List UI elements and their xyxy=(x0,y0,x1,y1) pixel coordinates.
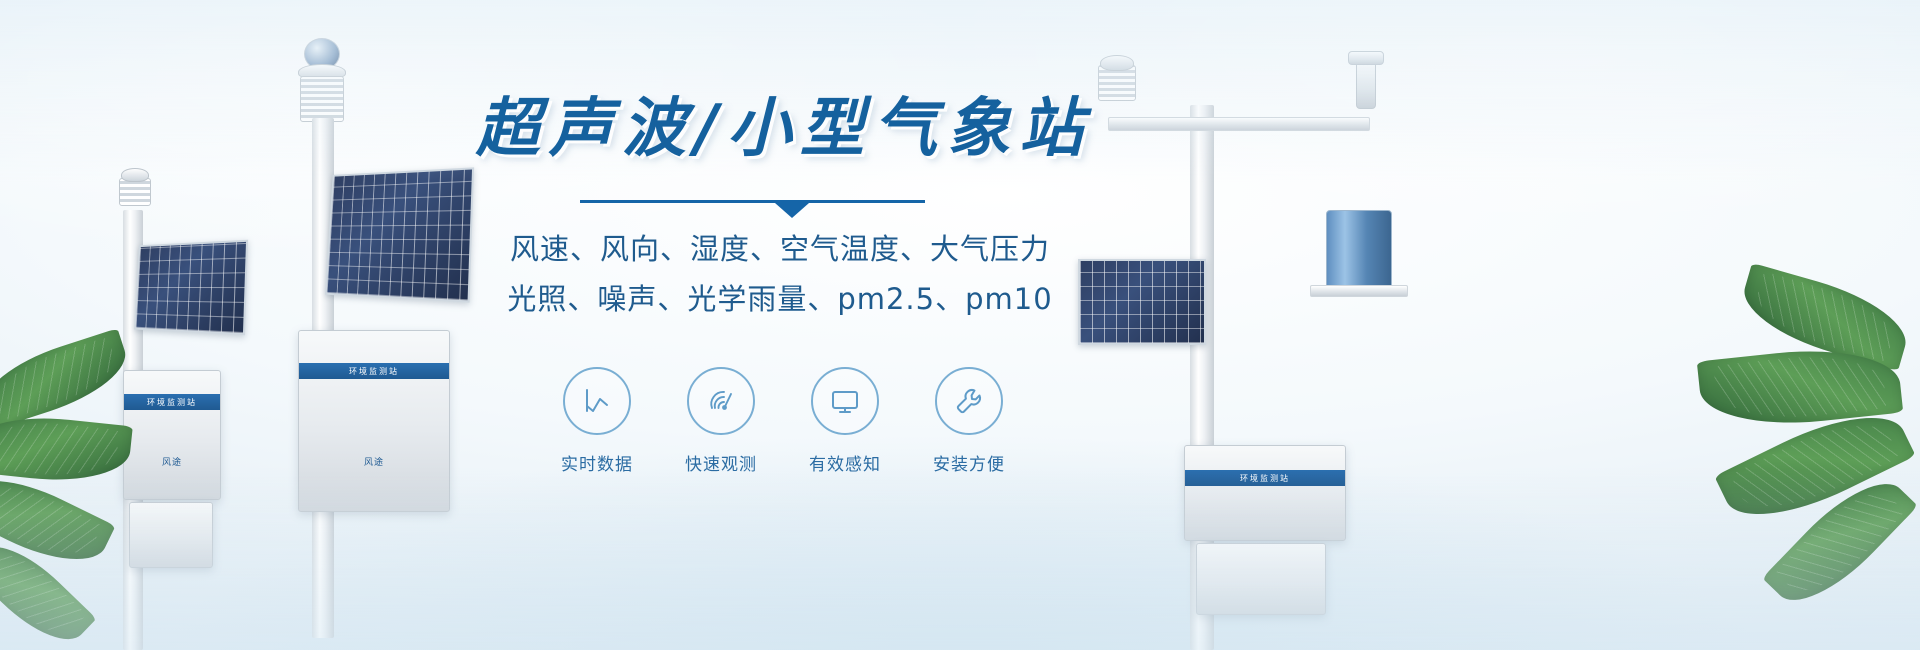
wind-vane-sensor xyxy=(1356,59,1376,109)
weather-station-left: 环境监测站 风途 xyxy=(105,170,265,650)
foliage-right xyxy=(1680,285,1920,650)
divider-bar xyxy=(580,200,925,203)
wrench-icon xyxy=(935,367,1003,435)
feature-item-realtime-data[interactable]: 实时数据 xyxy=(557,367,637,475)
divider-triangle-icon xyxy=(775,203,809,218)
station-c-label-strip: 环境监测站 xyxy=(1185,470,1345,486)
station-a-label: 环境监测站 xyxy=(147,397,197,408)
station-a-enclosure: 环境监测站 风途 xyxy=(123,370,221,500)
line-chart-icon xyxy=(563,367,631,435)
feature-list: 实时数据 快速观测 xyxy=(557,367,1009,475)
station-a-brand: 风途 xyxy=(124,455,220,468)
product-banner: 环境监测站 风途 环境监测站 风途 环境监测站 xyxy=(0,0,1920,650)
dome-sensor xyxy=(304,38,340,70)
station-b-label: 环境监测站 xyxy=(349,366,399,377)
subtitle-line-2: 光照、噪声、光学雨量、pm2.5、pm10 xyxy=(507,277,1052,323)
station-a-label-strip: 环境监测站 xyxy=(124,394,220,410)
station-b-label-strip: 环境监测站 xyxy=(299,363,449,379)
feature-item-easy-install[interactable]: 安装方便 xyxy=(929,367,1009,475)
title-divider xyxy=(580,197,925,211)
feature-label: 快速观测 xyxy=(685,450,757,475)
feature-label: 有效感知 xyxy=(809,450,881,475)
station-b-brand: 风途 xyxy=(299,455,449,468)
radiation-shield xyxy=(300,76,344,122)
rain-gauge xyxy=(1326,210,1392,288)
foliage-left xyxy=(0,330,160,650)
subtitle-line-1: 风速、风向、湿度、空气温度、大气压力 xyxy=(510,227,1050,273)
feature-label: 安装方便 xyxy=(933,450,1005,475)
feature-item-effective-sensing[interactable]: 有效感知 xyxy=(805,367,885,475)
station-c-enclosure: 环境监测站 xyxy=(1184,445,1346,541)
cross-arm xyxy=(1108,117,1370,131)
monitor-icon xyxy=(811,367,879,435)
mast-pole xyxy=(1190,105,1214,650)
feature-label: 实时数据 xyxy=(561,450,633,475)
feature-item-fast-observation[interactable]: 快速观测 xyxy=(681,367,761,475)
station-c-label: 环境监测站 xyxy=(1240,473,1290,484)
station-b-enclosure: 环境监测站 风途 xyxy=(298,330,450,512)
radar-signal-icon xyxy=(687,367,755,435)
banner-content: 超声波/小型气象站 风速、风向、湿度、空气温度、大气压力 光照、噪声、光学雨量、… xyxy=(440,96,1120,566)
page-title: 超声波/小型气象站 xyxy=(476,96,1092,163)
